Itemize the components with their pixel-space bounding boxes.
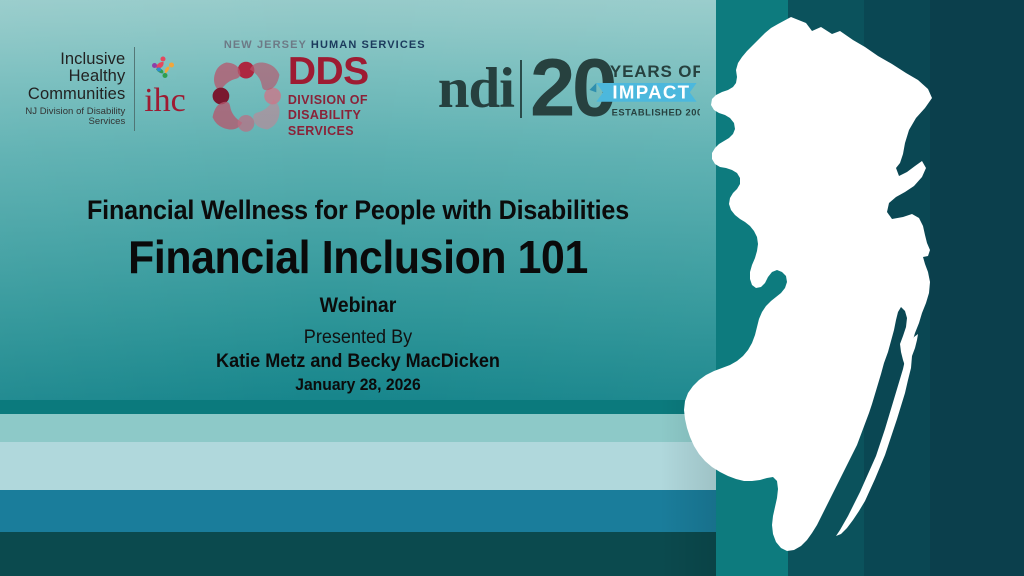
accent-band-light-1	[0, 414, 716, 442]
ihc-acronym: ihc	[144, 82, 186, 120]
ihc-line-1: Inclusive Healthy	[4, 51, 125, 87]
dds-subtitle: DIVISION OF DISABILITY SERVICES	[288, 93, 369, 139]
four-people-circle-icon	[208, 58, 284, 134]
dds-subtitle-line-1: DIVISION OF	[288, 93, 369, 108]
dds-acronym: DDS	[288, 52, 369, 91]
slide-title: Financial Inclusion 101	[25, 230, 691, 284]
accent-band-teal-top	[0, 400, 716, 414]
ndi-impact-label: IMPACT	[612, 81, 690, 102]
accent-band-light-2	[0, 442, 716, 490]
ndi-years-of-label: YEARS OF	[610, 62, 700, 81]
logo-dds: NEW JERSEY HUMAN SERVICES	[208, 39, 426, 139]
ndi-anniversary-badge: 20 YEARS OF IMPACT ESTABLISHED 2005	[530, 52, 700, 126]
logo-ndi: ndi 20 YEARS OF IMPACT ESTABLISHED 2005	[438, 52, 700, 126]
ndi-established-label: ESTABLISHED 2005	[612, 107, 700, 117]
presented-by-label: Presented By	[18, 327, 698, 349]
ihc-line-3: NJ Division of Disability Services	[4, 107, 125, 128]
ihc-mark: ihc	[144, 53, 200, 125]
ndi-divider	[520, 60, 522, 118]
logo-divider	[134, 47, 135, 131]
dds-subtitle-line-2: DISABILITY	[288, 108, 369, 123]
title-text-block: Financial Wellness for People with Disab…	[0, 196, 716, 395]
slide-format-label: Webinar	[25, 294, 691, 318]
accent-band-blue	[0, 490, 716, 532]
logo-ihc: Inclusive Healthy Communities NJ Divisio…	[0, 47, 200, 131]
pinwheel-people-icon	[148, 53, 178, 81]
ihc-wordmark: Inclusive Healthy Communities NJ Divisio…	[4, 51, 134, 128]
slide-date: January 28, 2026	[18, 376, 698, 395]
ihc-line-2: Communities	[4, 86, 125, 104]
slide-subhead: Financial Wellness for People with Disab…	[25, 196, 691, 226]
logo-bar: Inclusive Healthy Communities NJ Divisio…	[0, 30, 700, 148]
presenter-names: Katie Metz and Becky MacDicken	[18, 351, 698, 373]
dds-subtitle-line-3: SERVICES	[288, 124, 369, 139]
accent-band-dark	[0, 532, 716, 576]
title-slide: Inclusive Healthy Communities NJ Divisio…	[0, 0, 1024, 576]
ndi-wordmark: ndi	[438, 65, 514, 113]
